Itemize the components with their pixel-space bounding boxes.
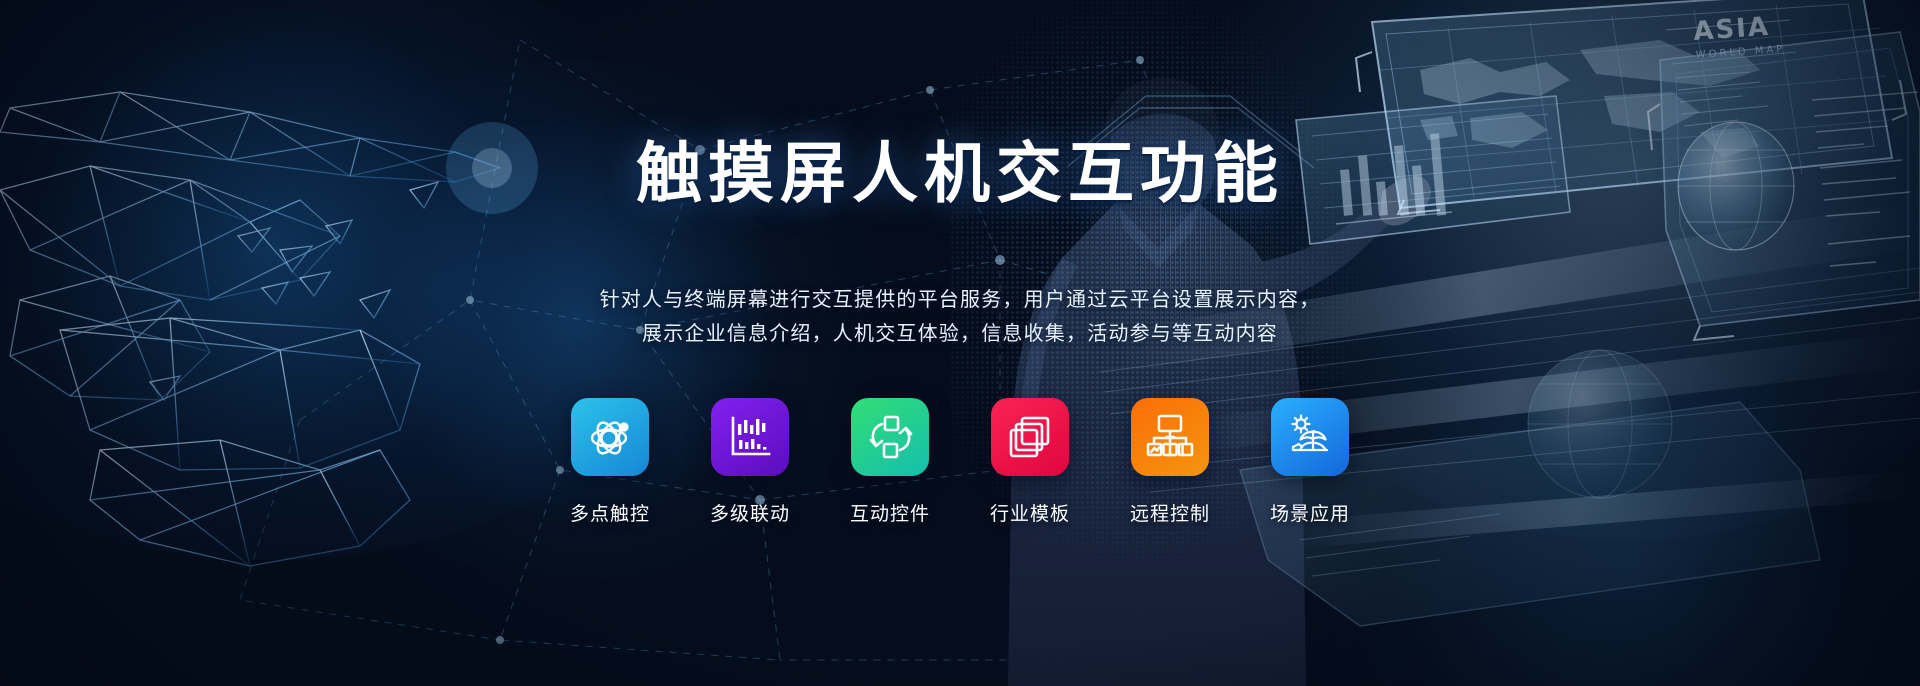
sync-widgets-icon bbox=[865, 412, 915, 462]
touchscreen-interaction-banner: ASIA WORLD MAP bbox=[0, 0, 1920, 686]
feature-tile-scene-application[interactable] bbox=[1271, 398, 1349, 476]
feature-item-multi-touch[interactable]: 多点触控 bbox=[571, 398, 649, 526]
feature-item-multi-level-linkage[interactable]: 多级联动 bbox=[711, 398, 789, 526]
subtitle-line-1: 针对人与终端屏幕进行交互提供的平台服务，用户通过云平台设置展示内容， bbox=[0, 283, 1920, 317]
feature-item-industry-templates[interactable]: 行业模板 bbox=[991, 398, 1069, 526]
beach-scene-icon bbox=[1285, 412, 1335, 462]
feature-label-interactive-widgets: 互动控件 bbox=[850, 499, 930, 526]
feature-tile-multi-level-linkage[interactable] bbox=[711, 398, 789, 476]
page-title: 触摸屏人机交互功能 bbox=[0, 140, 1920, 206]
atom-icon bbox=[585, 412, 635, 462]
feature-tile-industry-templates[interactable] bbox=[991, 398, 1069, 476]
feature-label-scene-application: 场景应用 bbox=[1270, 499, 1350, 526]
subtitle-line-2: 展示企业信息介绍，人机交互体验，信息收集，活动参与等互动内容 bbox=[0, 317, 1920, 351]
feature-item-remote-control[interactable]: 远程控制 bbox=[1131, 398, 1209, 526]
feature-list: 多点触控 bbox=[0, 398, 1920, 526]
feature-tile-interactive-widgets[interactable] bbox=[851, 398, 929, 476]
feature-label-remote-control: 远程控制 bbox=[1130, 499, 1210, 526]
feature-label-multi-level-linkage: 多级联动 bbox=[710, 499, 790, 526]
feature-item-interactive-widgets[interactable]: 互动控件 bbox=[851, 398, 929, 526]
feature-label-multi-touch: 多点触控 bbox=[570, 499, 650, 526]
feature-label-industry-templates: 行业模板 bbox=[990, 499, 1070, 526]
feature-item-scene-application[interactable]: 场景应用 bbox=[1271, 398, 1349, 526]
page-subtitle: 针对人与终端屏幕进行交互提供的平台服务，用户通过云平台设置展示内容， 展示企业信… bbox=[0, 283, 1920, 351]
feature-tile-remote-control[interactable] bbox=[1131, 398, 1209, 476]
remote-control-icon bbox=[1145, 412, 1195, 462]
layers-icon bbox=[1006, 413, 1054, 461]
bar-chart-icon bbox=[726, 413, 774, 461]
feature-tile-multi-touch[interactable] bbox=[571, 398, 649, 476]
